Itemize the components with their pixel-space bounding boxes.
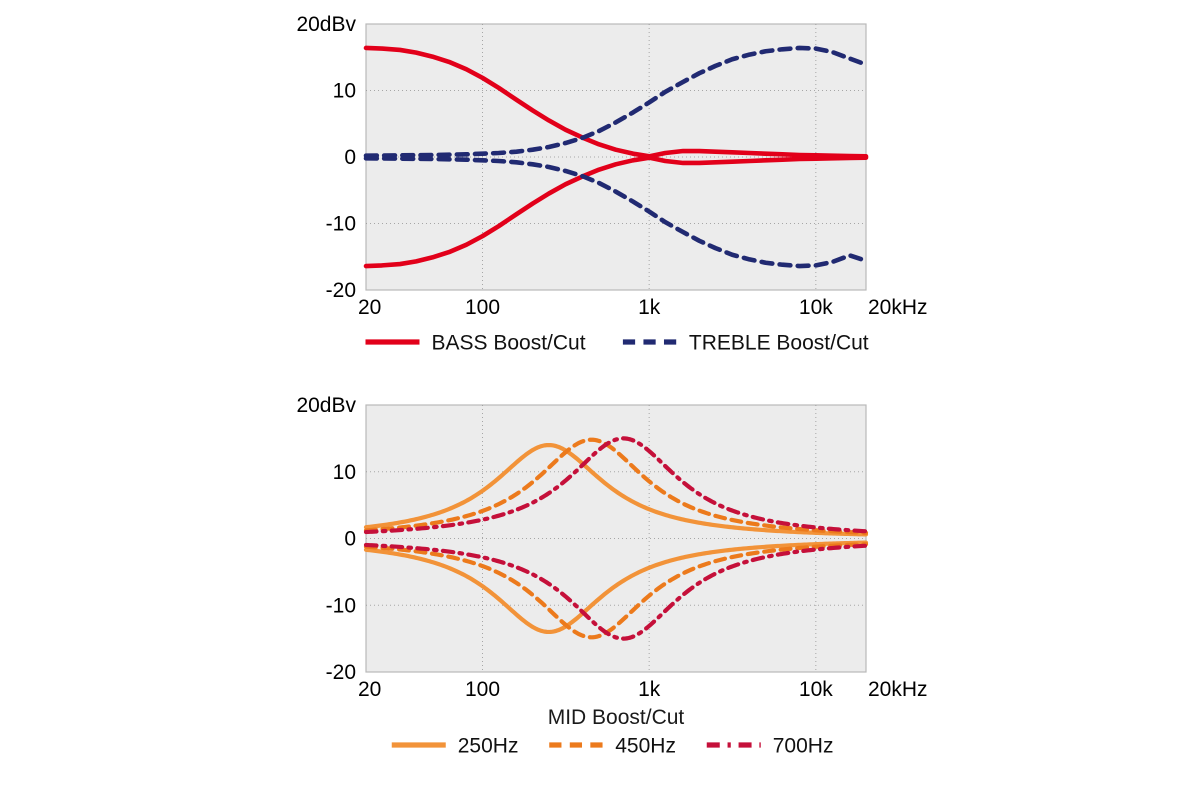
legend-label: 450Hz	[615, 735, 676, 758]
x-tick-label: 100	[465, 296, 500, 319]
x-tick-label: 20	[358, 296, 381, 319]
y-tick-label: -20	[326, 661, 356, 684]
x-tick-label: 100	[465, 678, 500, 701]
y-tick-label: 20dBv	[296, 13, 356, 36]
y-tick-label: -10	[326, 594, 356, 617]
chart-legend: 250Hz450Hz700Hz	[392, 735, 834, 758]
y-tick-label: 0	[344, 528, 356, 551]
x-tick-label: 1k	[638, 678, 661, 701]
mid-chart: 20dBv100-10-20201001k10k20kHzMID Boost/C…	[0, 380, 1200, 800]
x-tick-label: 10k	[799, 296, 833, 319]
y-tick-label: 0	[344, 146, 356, 169]
x-tick-label: 10k	[799, 678, 833, 701]
x-axis-title: MID Boost/Cut	[548, 706, 685, 729]
x-tick-label: 20	[358, 678, 381, 701]
legend-label: 250Hz	[458, 735, 519, 758]
y-tick-label: 10	[333, 461, 356, 484]
legend-label: BASS Boost/Cut	[432, 332, 586, 355]
x-tick-label: 20kHz	[868, 296, 928, 319]
legend-label: TREBLE Boost/Cut	[689, 332, 869, 355]
chart-legend: BASS Boost/CutTREBLE Boost/Cut	[366, 332, 869, 355]
bass-treble-chart: 20dBv100-10-20201001k10k20kHzBASS Boost/…	[0, 0, 1200, 380]
y-tick-label: -10	[326, 213, 356, 236]
y-tick-label: -20	[326, 279, 356, 302]
y-tick-label: 10	[333, 80, 356, 103]
x-tick-label: 20kHz	[868, 678, 928, 701]
bass-treble-plot-svg: 20dBv100-10-20201001k10k20kHzBASS Boost/…	[0, 0, 1200, 380]
x-tick-label: 1k	[638, 296, 661, 319]
legend-label: 700Hz	[773, 735, 834, 758]
y-tick-label: 20dBv	[296, 394, 356, 417]
mid-plot-svg: 20dBv100-10-20201001k10k20kHzMID Boost/C…	[0, 380, 1200, 800]
